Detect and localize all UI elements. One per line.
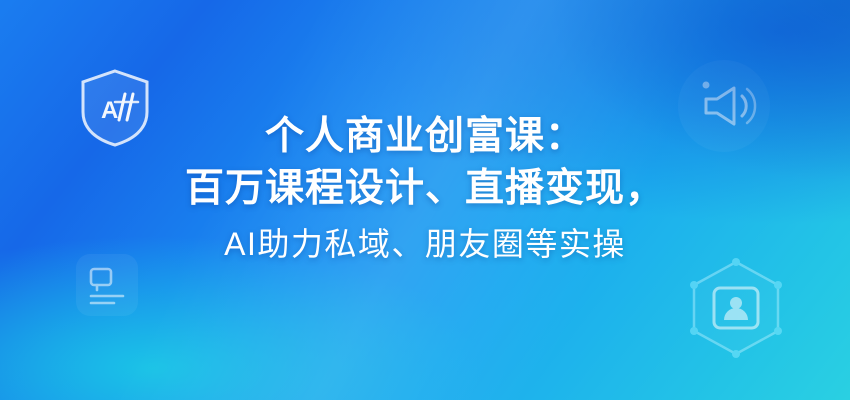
banner-title-block: 个人商业创富课： 百万课程设计、直播变现， AI助力私域、朋友圈等实操 [0, 112, 850, 272]
banner-subtitle-line-3: AI助力私域、朋友圈等实操 [120, 216, 730, 272]
banner-title-line-2: 百万课程设计、直播变现， [120, 162, 730, 216]
banner-title-line-1: 个人商业创富课： [120, 112, 730, 162]
course-promo-banner: A [0, 0, 850, 400]
